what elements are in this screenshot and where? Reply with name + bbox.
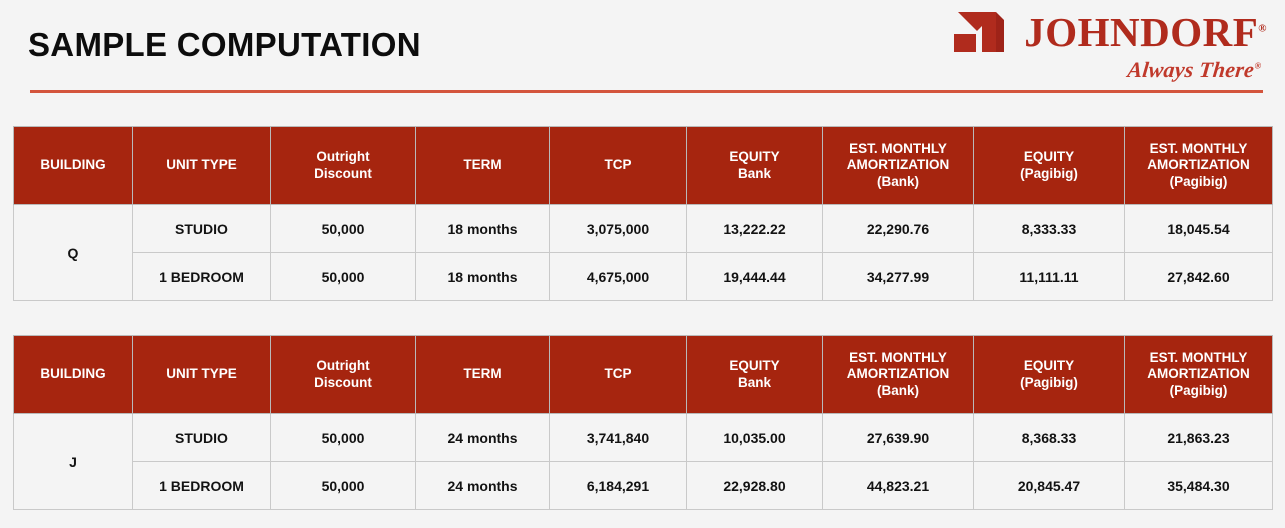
cell-term: 24 months (416, 414, 550, 462)
col-header-term: TERM (416, 336, 550, 414)
col-header-equity-bank: EQUITY Bank (687, 127, 823, 205)
logo-row: JOHNDORF® (967, 8, 1267, 56)
cell-equity-pagibig: 8,333.33 (974, 205, 1125, 253)
col-header-outright-discount: Outright Discount (271, 336, 416, 414)
col-header-equity-pagibig-line1: EQUITY (978, 358, 1120, 374)
col-header-amortization-pagibig-line1: EST. MONTHLY (1129, 141, 1268, 157)
cell-term: 18 months (416, 253, 550, 301)
col-header-amortization-bank-line3: (Bank) (827, 383, 969, 399)
cell-tcp: 4,675,000 (550, 253, 687, 301)
sample-computation-table-q: BUILDING UNIT TYPE Outright Discount TER… (13, 126, 1273, 301)
table-q-header-row: BUILDING UNIT TYPE Outright Discount TER… (14, 127, 1273, 205)
col-header-tcp: TCP (550, 336, 687, 414)
johndorf-arrow-mark-icon (952, 10, 1012, 54)
cell-amortization-pagibig: 35,484.30 (1125, 462, 1273, 510)
cell-outright-discount: 50,000 (271, 414, 416, 462)
col-header-equity-pagibig-line2: (Pagibig) (978, 166, 1120, 182)
col-header-equity-bank-line2: Bank (691, 375, 818, 391)
cell-unit-type: 1 BEDROOM (133, 462, 271, 510)
col-header-outright-discount-line2: Discount (275, 166, 411, 182)
cell-outright-discount: 50,000 (271, 462, 416, 510)
cell-term: 18 months (416, 205, 550, 253)
col-header-equity-bank-line1: EQUITY (691, 149, 818, 165)
building-label: Q (14, 205, 133, 301)
col-header-amortization-bank-line1: EST. MONTHLY (827, 350, 969, 366)
logo-registered-mark: ® (1258, 22, 1267, 34)
col-header-amortization-bank: EST. MONTHLY AMORTIZATION (Bank) (823, 127, 974, 205)
logo-tagline-registered-mark: ® (1254, 61, 1262, 71)
col-header-amortization-pagibig-line3: (Pagibig) (1129, 174, 1268, 190)
col-header-unit-type: UNIT TYPE (133, 336, 271, 414)
col-header-equity-bank-line1: EQUITY (691, 358, 818, 374)
cell-outright-discount: 50,000 (271, 253, 416, 301)
col-header-amortization-pagibig-line1: EST. MONTHLY (1129, 350, 1268, 366)
cell-tcp: 6,184,291 (550, 462, 687, 510)
cell-equity-pagibig: 11,111.11 (974, 253, 1125, 301)
cell-unit-type: 1 BEDROOM (133, 253, 271, 301)
col-header-amortization-pagibig-line2: AMORTIZATION (1129, 157, 1268, 173)
sample-computation-table-q-wrap: BUILDING UNIT TYPE Outright Discount TER… (13, 126, 1272, 301)
col-header-amortization-bank-line1: EST. MONTHLY (827, 141, 969, 157)
col-header-amortization-pagibig: EST. MONTHLY AMORTIZATION (Pagibig) (1125, 336, 1273, 414)
cell-equity-pagibig: 8,368.33 (974, 414, 1125, 462)
building-label: J (14, 414, 133, 510)
cell-equity-pagibig: 20,845.47 (974, 462, 1125, 510)
cell-equity-bank: 13,222.22 (687, 205, 823, 253)
cell-term: 24 months (416, 462, 550, 510)
col-header-amortization-bank-line2: AMORTIZATION (827, 366, 969, 382)
sample-computation-table-j-wrap: BUILDING UNIT TYPE Outright Discount TER… (13, 335, 1272, 510)
col-header-outright-discount-line1: Outright (275, 149, 411, 165)
col-header-equity-pagibig-line2: (Pagibig) (978, 375, 1120, 391)
table-j-header-row: BUILDING UNIT TYPE Outright Discount TER… (14, 336, 1273, 414)
cell-equity-bank: 22,928.80 (687, 462, 823, 510)
col-header-unit-type: UNIT TYPE (133, 127, 271, 205)
col-header-equity-bank: EQUITY Bank (687, 336, 823, 414)
col-header-outright-discount-line1: Outright (275, 358, 411, 374)
cell-amortization-pagibig: 18,045.54 (1125, 205, 1273, 253)
col-header-tcp: TCP (550, 127, 687, 205)
col-header-equity-pagibig-line1: EQUITY (978, 149, 1120, 165)
cell-tcp: 3,741,840 (550, 414, 687, 462)
col-header-equity-pagibig: EQUITY (Pagibig) (974, 127, 1125, 205)
table-row: Q STUDIO 50,000 18 months 3,075,000 13,2… (14, 205, 1273, 253)
page-title: SAMPLE COMPUTATION (28, 28, 421, 61)
col-header-amortization-pagibig-line2: AMORTIZATION (1129, 366, 1268, 382)
table-row: 1 BEDROOM 50,000 18 months 4,675,000 19,… (14, 253, 1273, 301)
sample-computation-table-j: BUILDING UNIT TYPE Outright Discount TER… (13, 335, 1273, 510)
logo-tagline-text: Always There (1126, 57, 1255, 82)
title-divider-rule (30, 90, 1263, 93)
col-header-building: BUILDING (14, 127, 133, 205)
col-header-outright-discount: Outright Discount (271, 127, 416, 205)
col-header-outright-discount-line2: Discount (275, 375, 411, 391)
col-header-equity-bank-line2: Bank (691, 166, 818, 182)
col-header-equity-pagibig: EQUITY (Pagibig) (974, 336, 1125, 414)
col-header-term: TERM (416, 127, 550, 205)
cell-amortization-pagibig: 27,842.60 (1125, 253, 1273, 301)
cell-amortization-bank: 34,277.99 (823, 253, 974, 301)
page-header: SAMPLE COMPUTATION JOHNDORF® Always Ther… (0, 0, 1285, 104)
logo-tagline: Always There® (966, 57, 1269, 83)
logo-wordmark-text: JOHNDORF (1024, 9, 1258, 55)
col-header-amortization-bank-line2: AMORTIZATION (827, 157, 969, 173)
cell-amortization-bank: 44,823.21 (823, 462, 974, 510)
cell-amortization-pagibig: 21,863.23 (1125, 414, 1273, 462)
cell-unit-type: STUDIO (133, 205, 271, 253)
cell-unit-type: STUDIO (133, 414, 271, 462)
col-header-amortization-bank: EST. MONTHLY AMORTIZATION (Bank) (823, 336, 974, 414)
col-header-amortization-pagibig-line3: (Pagibig) (1129, 383, 1268, 399)
cell-outright-discount: 50,000 (271, 205, 416, 253)
col-header-amortization-bank-line3: (Bank) (827, 174, 969, 190)
table-row: J STUDIO 50,000 24 months 3,741,840 10,0… (14, 414, 1273, 462)
logo-wordmark: JOHNDORF® (1024, 12, 1267, 53)
table-row: 1 BEDROOM 50,000 24 months 6,184,291 22,… (14, 462, 1273, 510)
cell-equity-bank: 10,035.00 (687, 414, 823, 462)
col-header-amortization-pagibig: EST. MONTHLY AMORTIZATION (Pagibig) (1125, 127, 1273, 205)
cell-amortization-bank: 27,639.90 (823, 414, 974, 462)
cell-equity-bank: 19,444.44 (687, 253, 823, 301)
cell-tcp: 3,075,000 (550, 205, 687, 253)
cell-amortization-bank: 22,290.76 (823, 205, 974, 253)
johndorf-logo: JOHNDORF® Always There® (967, 8, 1267, 86)
col-header-building: BUILDING (14, 336, 133, 414)
